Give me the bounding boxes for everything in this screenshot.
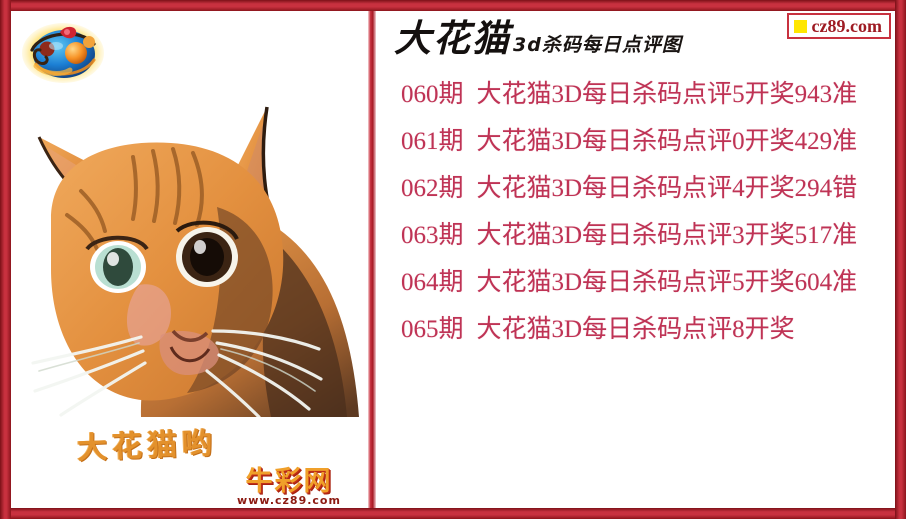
poster-page: 大花猫哟 牛彩网 www.cz89.com cz89.com 大花猫 3d杀码每… (0, 0, 906, 519)
list-item: 061期 大花猫3D每日杀码点评0开奖429准 (401, 118, 895, 165)
list-item: 064期 大花猫3D每日杀码点评5开奖604准 (401, 259, 895, 306)
list-item-body: 大花猫3D每日杀码点评8开奖 (477, 306, 795, 353)
list-item-body: 大花猫3D每日杀码点评3开奖517准 (477, 212, 858, 259)
list-item-body: 大花猫3D每日杀码点评4开奖294错 (477, 165, 858, 212)
cat-caption-text: 大花猫哟 (76, 418, 218, 467)
list-item: 063期 大花猫3D每日杀码点评3开奖517准 (401, 212, 895, 259)
frame-border-left (0, 0, 11, 519)
list-item-issue: 062期 (401, 165, 464, 212)
cat-caption-strip: 大花猫哟 (40, 405, 342, 474)
cat-photo (21, 99, 361, 417)
page-title-main: 大花猫 (394, 19, 511, 59)
list-item-issue: 061期 (401, 118, 464, 165)
watermark-url: www.cz89.com (194, 494, 384, 507)
lottery-3d-logo-icon (20, 20, 106, 86)
page-title: 大花猫 3d杀码每日点评图 (394, 19, 682, 59)
watermark-brand: 牛彩网 (194, 469, 384, 495)
cz89-badge[interactable]: cz89.com (787, 13, 891, 39)
frame-border-right (895, 0, 906, 519)
frame-border-top (0, 0, 906, 11)
panel-divider (368, 11, 376, 508)
list-item-issue: 063期 (401, 212, 464, 259)
list-item: 060期 大花猫3D每日杀码点评5开奖943准 (401, 71, 895, 118)
left-panel: 大花猫哟 牛彩网 www.cz89.com (11, 11, 368, 508)
page-title-sub: 3d杀码每日点评图 (513, 32, 682, 58)
site-watermark: 牛彩网 www.cz89.com (194, 469, 384, 509)
list-item-body: 大花猫3D每日杀码点评5开奖604准 (477, 259, 858, 306)
list-item-body: 大花猫3D每日杀码点评5开奖943准 (477, 71, 858, 118)
list-item-body: 大花猫3D每日杀码点评0开奖429准 (477, 118, 858, 165)
forecast-list: 060期 大花猫3D每日杀码点评5开奖943准 061期 大花猫3D每日杀码点评… (401, 71, 895, 353)
right-panel: cz89.com 大花猫 3d杀码每日点评图 060期 大花猫3D每日杀码点评5… (376, 11, 895, 508)
list-item: 062期 大花猫3D每日杀码点评4开奖294错 (401, 165, 895, 212)
list-item-issue: 060期 (401, 71, 464, 118)
list-item-issue: 064期 (401, 259, 464, 306)
list-item: 065期 大花猫3D每日杀码点评8开奖 (401, 306, 895, 353)
cz89-badge-text: cz89.com (812, 17, 882, 35)
yellow-square-icon (794, 20, 807, 33)
poster-inner: 大花猫哟 牛彩网 www.cz89.com cz89.com 大花猫 3d杀码每… (11, 11, 895, 508)
list-item-issue: 065期 (401, 306, 464, 353)
frame-border-bottom (0, 508, 906, 519)
